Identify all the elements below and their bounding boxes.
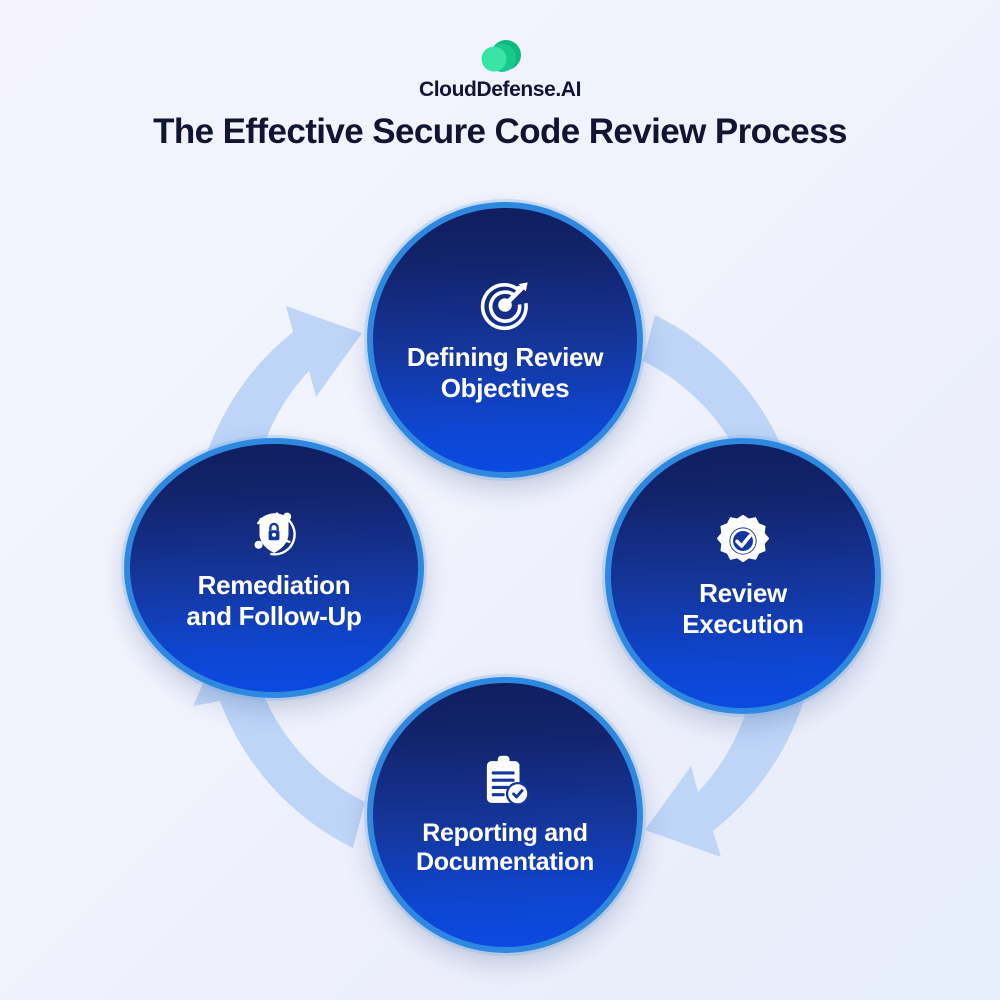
cycle-step-label: Review Execution — [662, 578, 824, 639]
cloud-logo-icon — [472, 36, 528, 76]
target-arrow-icon — [476, 276, 534, 334]
shield-lock-orbit-icon — [245, 504, 303, 562]
cycle-step-label: Defining Review Objectives — [387, 342, 623, 403]
clipboard-check-icon — [476, 753, 534, 811]
cycle-step-label: Remediation and Follow-Up — [166, 570, 381, 631]
process-cycle-diagram: Defining Review Objectives Review Execut… — [110, 185, 900, 975]
infographic-canvas: CloudDefense.AI The Effective Secure Cod… — [0, 0, 1000, 1000]
gear-check-icon — [714, 512, 772, 570]
page-title: The Effective Secure Code Review Process — [0, 112, 1000, 152]
cycle-step-label: Reporting and Documentation — [396, 819, 614, 878]
cycle-step-reporting-and-documentation[interactable]: Reporting and Documentation — [367, 677, 643, 953]
brand-name: CloudDefense.AI — [0, 78, 1000, 102]
cycle-step-remediation-and-follow-up[interactable]: Remediation and Follow-Up — [124, 438, 424, 698]
cycle-step-defining-review-objectives[interactable]: Defining Review Objectives — [367, 202, 643, 478]
cycle-step-review-execution[interactable]: Review Execution — [605, 438, 881, 714]
brand-header: CloudDefense.AI — [0, 36, 1000, 102]
